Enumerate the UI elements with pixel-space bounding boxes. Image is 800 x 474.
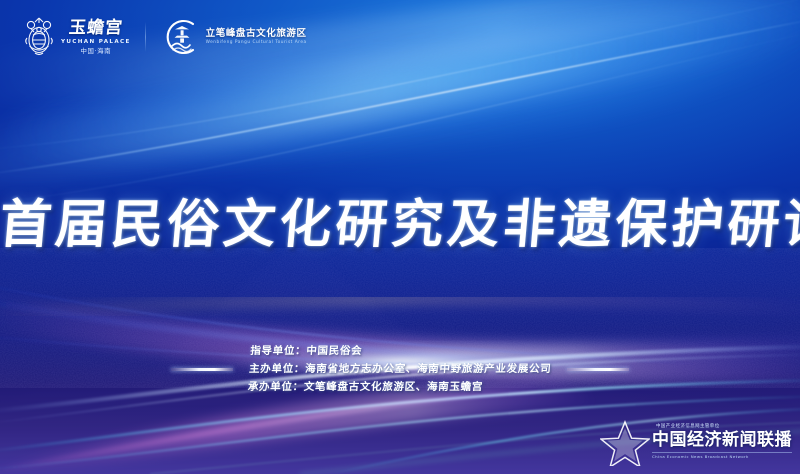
wenbifeng-circle-pavilion-icon (160, 17, 200, 57)
organizer-lines: 指导单位：中国民俗会 主办单位：海南省地方志办公室、海南中野旅游产业发展公司 承… (247, 344, 553, 396)
header-logo-row: 玉蟾宫 YUCHAN PALACE 中国·海南 立笔峰盘古文化旅游区 (22, 16, 307, 58)
organizer-line-guidance: 指导单位：中国民俗会 (250, 344, 553, 359)
wenbifeng-logo[interactable]: 立笔峰盘古文化旅游区 Wenbifeng Pangu Cultural Tour… (160, 17, 307, 57)
media-name-cn: 中国经济新闻联播 (652, 432, 792, 449)
organizer-block: 指导单位：中国民俗会 主办单位：海南省地方志办公室、海南中野旅游产业发展公司 承… (0, 344, 800, 396)
media-partner-logo[interactable]: 中国产业经济信息网主管单位 中国经济新闻联播 China Economic Ne… (600, 420, 792, 466)
organizer-line-undertaker: 承办单位：文笔峰盘古文化旅游区、海南玉蟾宫 (247, 380, 550, 395)
wenbifeng-name-cn: 立笔峰盘古文化旅游区 (206, 29, 307, 39)
wenbifeng-name-en: Wenbifeng Pangu Cultural Tourist Area (206, 41, 307, 45)
media-name-en: China Economic News Broadcast Network (652, 452, 792, 459)
yuchan-crest-icon (22, 16, 56, 58)
logo-divider (145, 22, 146, 52)
five-pointed-star-icon (600, 420, 650, 466)
yuchan-name-cn: 玉蟾宫 (68, 20, 124, 37)
media-text-block: 中国产业经济信息网主管单位 中国经济新闻联播 China Economic Ne… (652, 425, 792, 460)
banner-canvas: 玉蟾宫 YUCHAN PALACE 中国·海南 立笔峰盘古文化旅游区 (0, 0, 800, 474)
decorative-rule-left (171, 368, 233, 371)
banner-title: 首届民俗文化研究及非遗保护研讨会 (0, 182, 800, 257)
organizer-line-host: 主办单位：海南省地方志办公室、海南中野旅游产业发展公司 (248, 362, 551, 377)
decorative-rule-right (567, 368, 629, 371)
yuchan-name-en: YUCHAN PALACE (61, 40, 131, 46)
yuchan-text-block: 玉蟾宫 YUCHAN PALACE 中国·海南 (61, 20, 131, 55)
yuchan-palace-logo[interactable]: 玉蟾宫 YUCHAN PALACE 中国·海南 (22, 16, 131, 58)
yuchan-location: 中国·海南 (81, 48, 112, 54)
wenbifeng-text-block: 立笔峰盘古文化旅游区 Wenbifeng Pangu Cultural Tour… (206, 29, 307, 46)
